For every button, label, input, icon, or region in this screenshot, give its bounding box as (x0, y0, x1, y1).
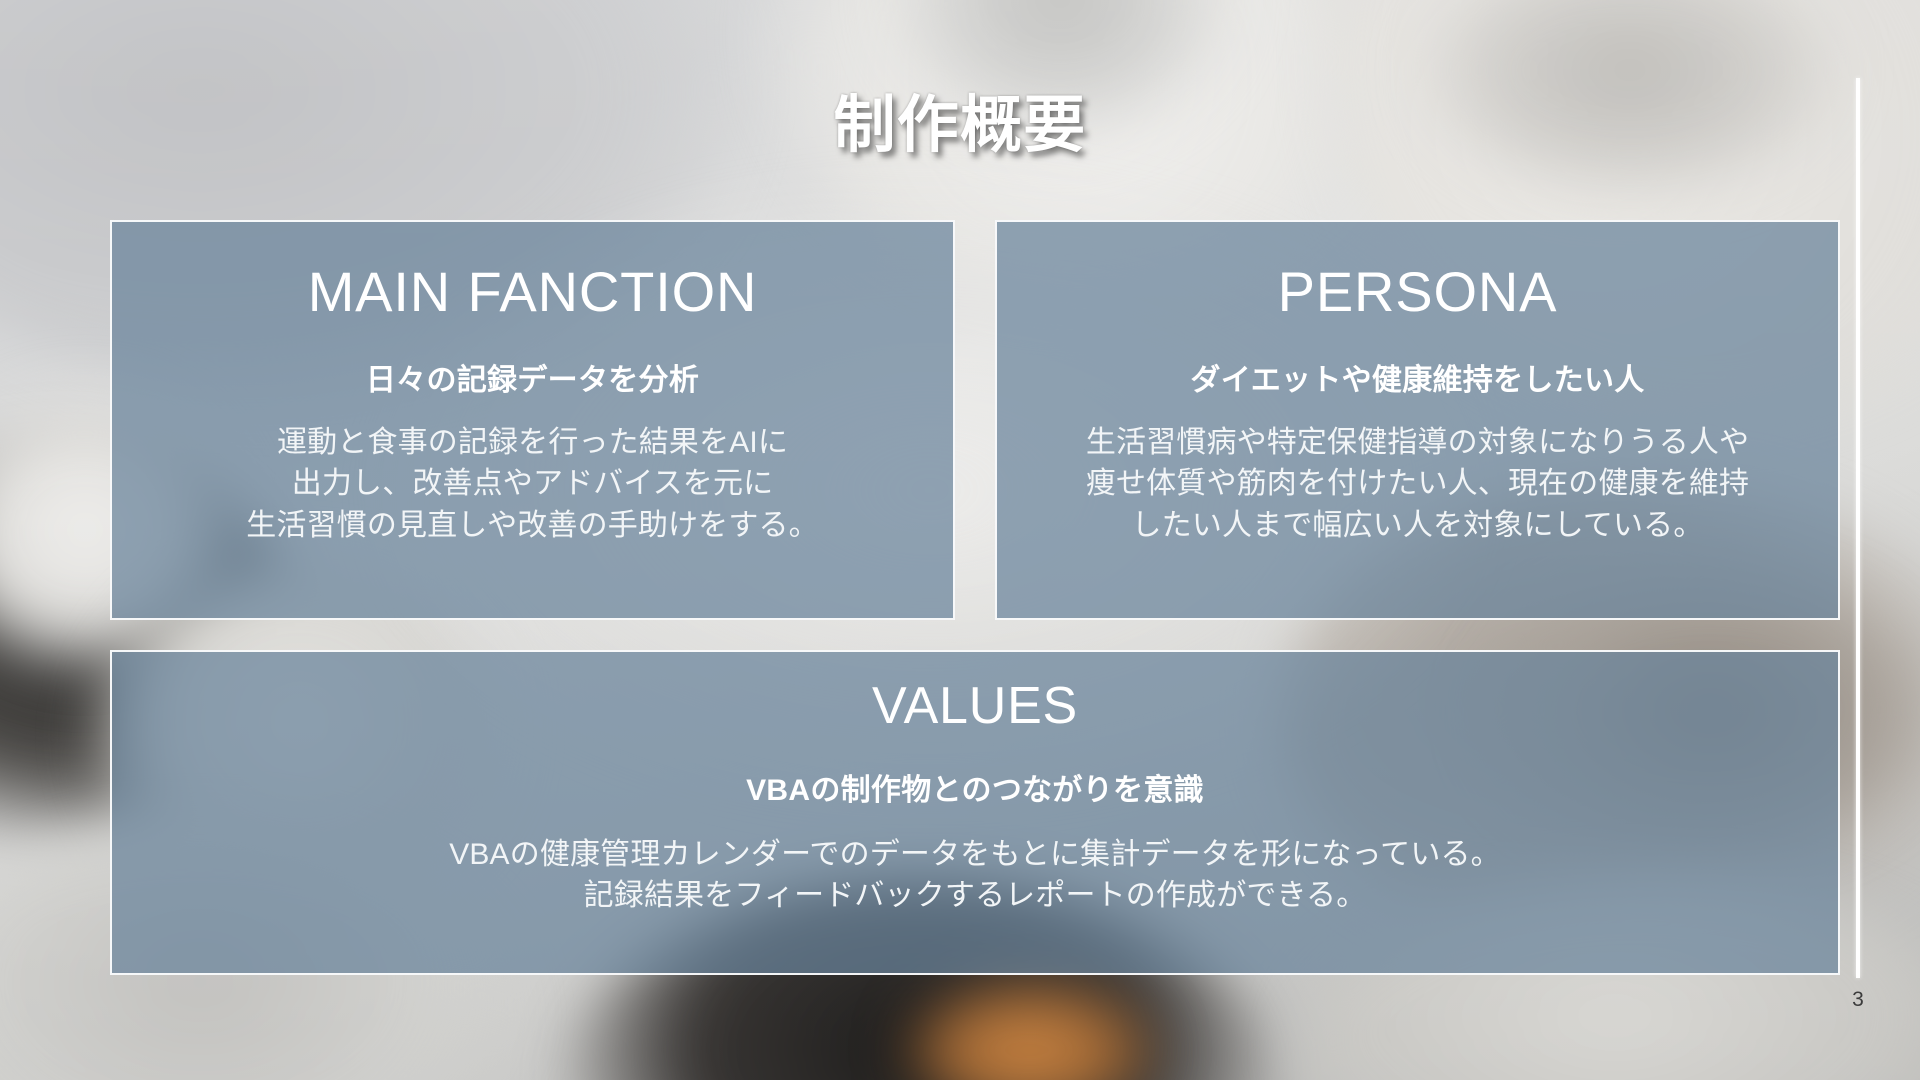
slide-canvas: 制作概要 MAIN FANCTION 日々の記録データを分析 運動と食事の記録を… (0, 0, 1920, 1080)
card-body-line: VBAの健康管理カレンダーでのデータをもとに集計データを形になっている。 (112, 834, 1838, 875)
card-body-main-fanction: 運動と食事の記録を行った結果をAIに 出力し、改善点やアドバイスを元に 生活習慣… (112, 422, 953, 546)
card-body-line: 生活習慣の見直しや改善の手助けをする。 (112, 505, 953, 546)
card-body-persona: 生活習慣病や特定保健指導の対象になりうる人や 痩せ体質や筋肉を付けたい人、現在の… (997, 422, 1838, 546)
card-body-line: 運動と食事の記録を行った結果をAIに (112, 422, 953, 463)
card-heading-persona: PERSONA (997, 264, 1838, 320)
card-body-line: 痩せ体質や筋肉を付けたい人、現在の健康を維持 (997, 463, 1838, 504)
card-subtitle-values: VBAの制作物とのつながりを意識 (112, 776, 1838, 806)
card-body-line: したい人まで幅広い人を対象にしている。 (997, 505, 1838, 546)
page-number: 3 (1836, 988, 1880, 1012)
card-persona: PERSONA ダイエットや健康維持をしたい人 生活習慣病や特定保健指導の対象に… (995, 220, 1840, 620)
card-body-line: 出力し、改善点やアドバイスを元に (112, 463, 953, 504)
card-body-line: 記録結果をフィードバックするレポートの作成ができる。 (112, 875, 1838, 916)
card-subtitle-persona: ダイエットや健康維持をしたい人 (997, 366, 1838, 396)
card-main-fanction: MAIN FANCTION 日々の記録データを分析 運動と食事の記録を行った結果… (110, 220, 955, 620)
card-heading-main-fanction: MAIN FANCTION (112, 264, 953, 320)
card-values: VALUES VBAの制作物とのつながりを意識 VBAの健康管理カレンダーでのデ… (110, 650, 1840, 975)
right-edge-rule (1856, 78, 1860, 978)
card-subtitle-main-fanction: 日々の記録データを分析 (112, 366, 953, 396)
card-heading-values: VALUES (112, 680, 1838, 732)
card-body-values: VBAの健康管理カレンダーでのデータをもとに集計データを形になっている。 記録結… (112, 834, 1838, 917)
card-body-line: 生活習慣病や特定保健指導の対象になりうる人や (997, 422, 1838, 463)
slide-title: 制作概要 (0, 95, 1920, 157)
